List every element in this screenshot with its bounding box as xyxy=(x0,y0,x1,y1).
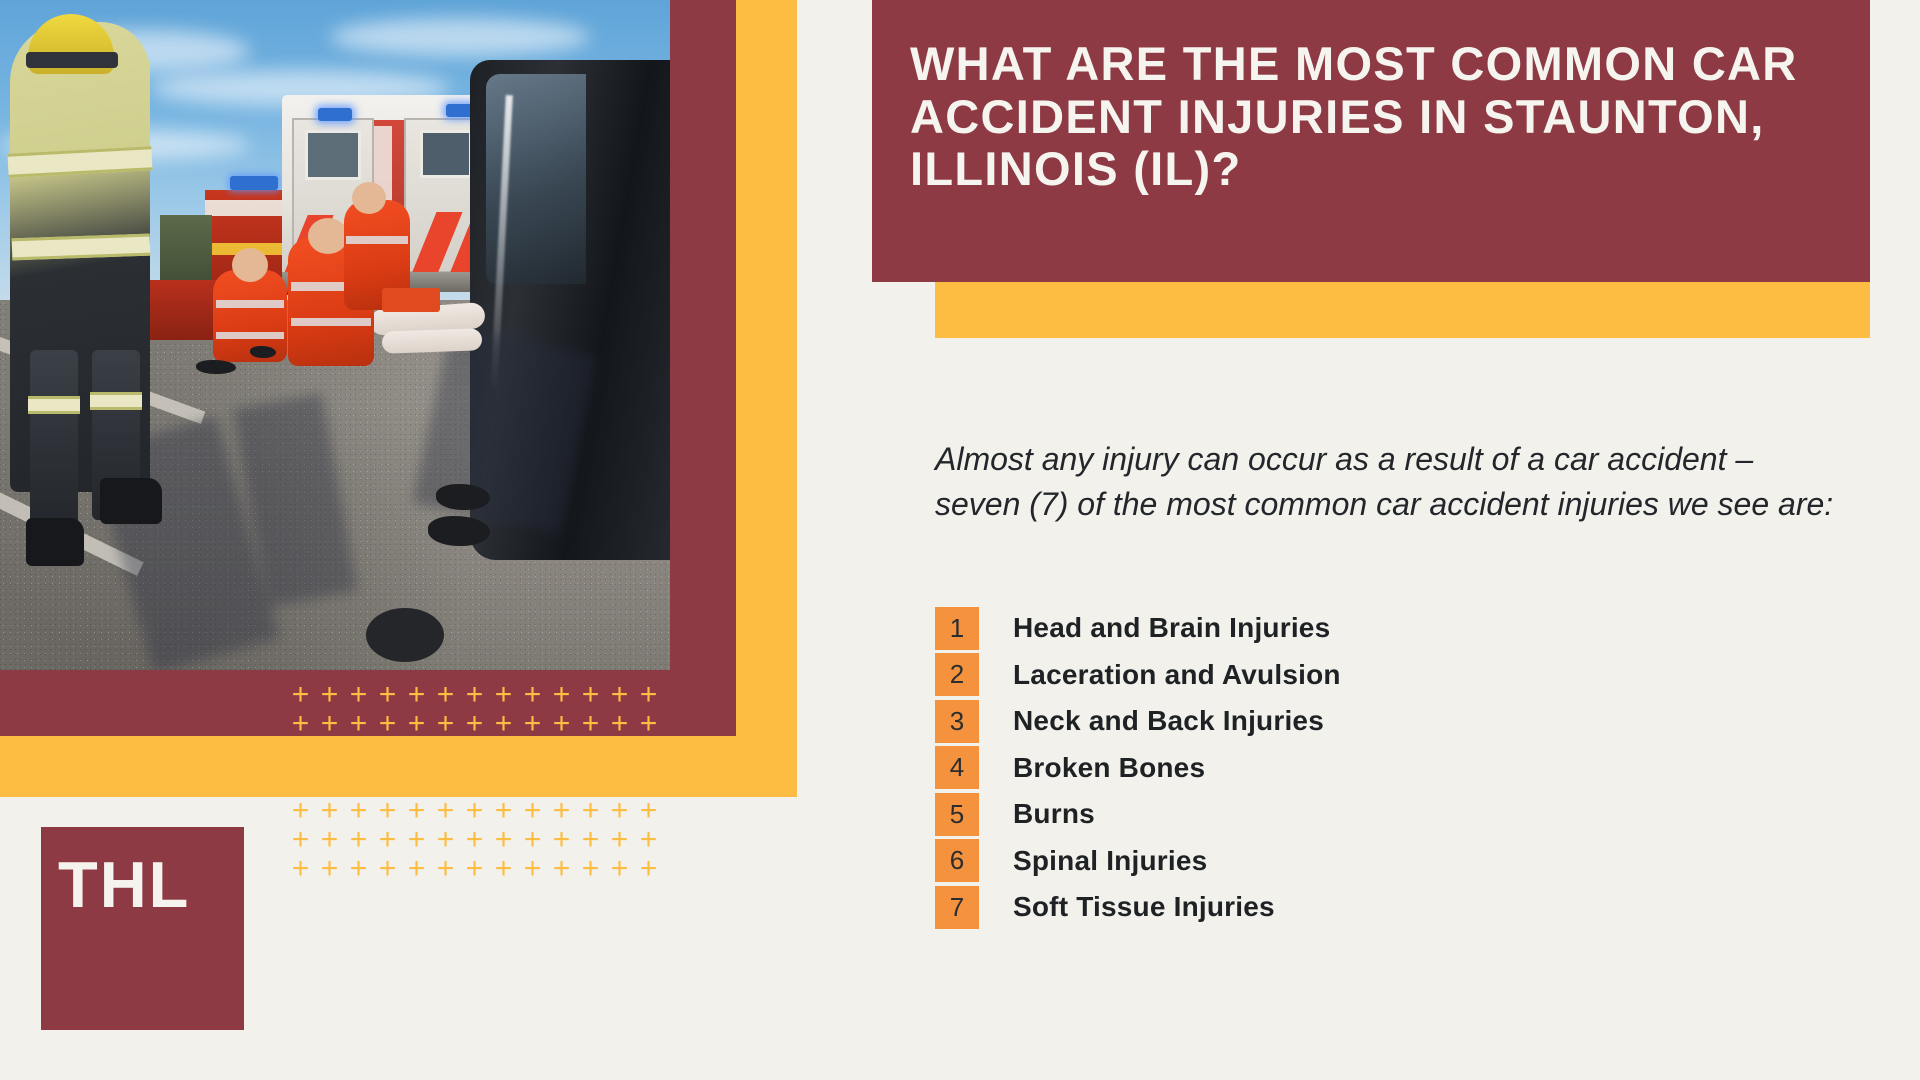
injury-list-item: 2Laceration and Avulsion xyxy=(935,652,1835,699)
injury-number-badge: 7 xyxy=(935,886,979,929)
plus-glyph: + xyxy=(373,738,402,767)
plus-glyph: + xyxy=(402,680,431,709)
injury-number-badge: 5 xyxy=(935,793,979,836)
photo-debris xyxy=(366,608,444,662)
title-banner: WHAT ARE THE MOST COMMON CAR ACCIDENT IN… xyxy=(872,0,1870,282)
plus-glyph: + xyxy=(489,796,518,825)
plus-glyph: + xyxy=(460,680,489,709)
plus-glyph: + xyxy=(286,738,315,767)
injury-list-item: 3Neck and Back Injuries xyxy=(935,698,1835,745)
photo-hi-vis-stripe xyxy=(90,392,142,410)
plus-glyph: + xyxy=(402,709,431,738)
plus-glyph: + xyxy=(489,767,518,796)
plus-glyph: + xyxy=(431,738,460,767)
plus-glyph: + xyxy=(547,825,576,854)
photo-debris xyxy=(196,360,236,374)
plus-glyph: + xyxy=(576,796,605,825)
plus-glyph: + xyxy=(344,709,373,738)
photo-hi-vis-stripe xyxy=(216,332,284,339)
plus-glyph: + xyxy=(460,796,489,825)
plus-glyph: + xyxy=(373,767,402,796)
injury-list-item: 6Spinal Injuries xyxy=(935,838,1835,885)
plus-glyph: + xyxy=(315,738,344,767)
plus-glyph: + xyxy=(634,767,663,796)
plus-glyph: + xyxy=(518,767,547,796)
plus-glyph: + xyxy=(518,680,547,709)
injury-label: Head and Brain Injuries xyxy=(1013,612,1330,644)
injury-label: Burns xyxy=(1013,798,1095,830)
injury-label: Neck and Back Injuries xyxy=(1013,705,1324,737)
plus-glyph: + xyxy=(576,680,605,709)
plus-glyph: + xyxy=(431,767,460,796)
photo-firefighter-boot xyxy=(26,518,84,566)
photo-paramedic-head xyxy=(232,248,268,282)
plus-glyph: + xyxy=(576,854,605,883)
plus-glyph: + xyxy=(344,767,373,796)
photo-emergency-light xyxy=(318,108,352,121)
injury-list: 1Head and Brain Injuries2Laceration and … xyxy=(935,605,1835,931)
photo-debris xyxy=(250,346,276,358)
photo-emergency-light xyxy=(230,176,278,190)
plus-glyph: + xyxy=(605,680,634,709)
accident-scene-photo xyxy=(0,0,670,670)
plus-glyph: + xyxy=(431,680,460,709)
plus-glyph: + xyxy=(431,825,460,854)
injury-label: Spinal Injuries xyxy=(1013,845,1207,877)
thl-logo-mark: THL xyxy=(41,827,244,917)
injury-number-badge: 1 xyxy=(935,607,979,650)
plus-glyph: + xyxy=(373,680,402,709)
plus-glyph: + xyxy=(315,709,344,738)
plus-glyph: + xyxy=(402,854,431,883)
plus-glyph: + xyxy=(286,825,315,854)
injury-list-item: 5Burns xyxy=(935,791,1835,838)
photo-firefighter-boot xyxy=(100,478,162,524)
plus-glyph: + xyxy=(344,854,373,883)
plus-glyph: + xyxy=(518,854,547,883)
plus-glyph: + xyxy=(576,709,605,738)
injury-number-badge: 4 xyxy=(935,746,979,789)
plus-glyph: + xyxy=(286,854,315,883)
plus-glyph: + xyxy=(431,796,460,825)
plus-glyph: + xyxy=(344,738,373,767)
photo-patient xyxy=(382,328,483,353)
plus-glyph: + xyxy=(605,854,634,883)
plus-glyph: + xyxy=(605,767,634,796)
plus-glyph: + xyxy=(373,796,402,825)
plus-glyph: + xyxy=(489,738,518,767)
plus-glyph: + xyxy=(286,680,315,709)
plus-glyph: + xyxy=(518,825,547,854)
plus-glyph: + xyxy=(634,738,663,767)
photo-hi-vis-stripe xyxy=(346,236,408,244)
plus-glyph: + xyxy=(634,825,663,854)
plus-glyph: + xyxy=(286,796,315,825)
injury-list-item: 7Soft Tissue Injuries xyxy=(935,884,1835,931)
intro-paragraph: Almost any injury can occur as a result … xyxy=(935,437,1845,528)
photo-firefighter-helmet-band xyxy=(26,52,118,68)
plus-glyph: + xyxy=(431,854,460,883)
plus-glyph: + xyxy=(373,854,402,883)
plus-glyph: + xyxy=(547,854,576,883)
photo-paramedic-head xyxy=(352,182,386,214)
photo-paramedic-head xyxy=(308,218,348,254)
plus-glyph: + xyxy=(460,767,489,796)
photo-ambulance-window xyxy=(420,130,472,178)
plus-glyph: + xyxy=(402,825,431,854)
plus-glyph: + xyxy=(344,796,373,825)
plus-glyph: + xyxy=(315,796,344,825)
injury-label: Broken Bones xyxy=(1013,752,1205,784)
plus-glyph: + xyxy=(634,854,663,883)
photo-hi-vis-stripe xyxy=(216,300,284,308)
plus-glyph: + xyxy=(315,854,344,883)
plus-glyph: + xyxy=(460,854,489,883)
injury-list-item: 4Broken Bones xyxy=(935,745,1835,792)
photo-hi-vis-stripe xyxy=(28,396,80,414)
injury-list-item: 1Head and Brain Injuries xyxy=(935,605,1835,652)
plus-glyph: + xyxy=(547,680,576,709)
injury-label: Soft Tissue Injuries xyxy=(1013,891,1275,923)
plus-glyph: + xyxy=(460,709,489,738)
plus-glyph: + xyxy=(634,709,663,738)
plus-glyph: + xyxy=(373,709,402,738)
plus-glyph: + xyxy=(634,680,663,709)
photo-firefighter-leg xyxy=(30,350,78,530)
plus-glyph: + xyxy=(460,738,489,767)
plus-glyph: + xyxy=(547,767,576,796)
plus-glyph: + xyxy=(373,825,402,854)
plus-glyph: + xyxy=(576,825,605,854)
plus-glyph: + xyxy=(489,854,518,883)
plus-glyph: + xyxy=(605,709,634,738)
plus-glyph: + xyxy=(489,680,518,709)
plus-glyph: + xyxy=(634,796,663,825)
plus-glyph: + xyxy=(605,738,634,767)
plus-glyph: + xyxy=(576,767,605,796)
photo-hi-vis-stripe xyxy=(291,318,371,326)
thl-logo[interactable]: THL xyxy=(41,827,244,1030)
plus-glyph: + xyxy=(286,767,315,796)
plus-glyph: + xyxy=(431,709,460,738)
photo-debris xyxy=(428,516,490,546)
injury-label: Laceration and Avulsion xyxy=(1013,659,1341,691)
plus-glyph: + xyxy=(460,825,489,854)
plus-glyph: + xyxy=(402,767,431,796)
plus-glyph: + xyxy=(402,796,431,825)
plus-glyph: + xyxy=(518,796,547,825)
plus-glyph: + xyxy=(489,825,518,854)
plus-glyph: + xyxy=(547,738,576,767)
plus-glyph: + xyxy=(344,680,373,709)
plus-glyph: + xyxy=(315,825,344,854)
plus-glyph: + xyxy=(605,796,634,825)
plus-glyph: + xyxy=(315,680,344,709)
photo-debris xyxy=(436,484,490,510)
plus-glyph: + xyxy=(286,709,315,738)
photo-cloud xyxy=(330,18,590,56)
page-title: WHAT ARE THE MOST COMMON CAR ACCIDENT IN… xyxy=(872,0,1870,196)
plus-glyph: + xyxy=(518,709,547,738)
plus-glyph: + xyxy=(547,796,576,825)
plus-glyph: + xyxy=(518,738,547,767)
plus-glyph: + xyxy=(315,767,344,796)
injury-number-badge: 6 xyxy=(935,839,979,882)
injury-number-badge: 2 xyxy=(935,653,979,696)
plus-glyph: + xyxy=(344,825,373,854)
plus-glyph: + xyxy=(489,709,518,738)
photo-medical-bag xyxy=(382,288,440,312)
plus-glyph: + xyxy=(605,825,634,854)
plus-glyph: + xyxy=(576,738,605,767)
plus-glyph: + xyxy=(547,709,576,738)
photo-ambulance-window xyxy=(305,130,361,180)
plus-pattern-decoration: ++++++++++++++++++++++++++++++++++++++++… xyxy=(286,680,666,880)
injury-number-badge: 3 xyxy=(935,700,979,743)
plus-glyph: + xyxy=(402,738,431,767)
title-accent-bar xyxy=(935,282,1870,338)
